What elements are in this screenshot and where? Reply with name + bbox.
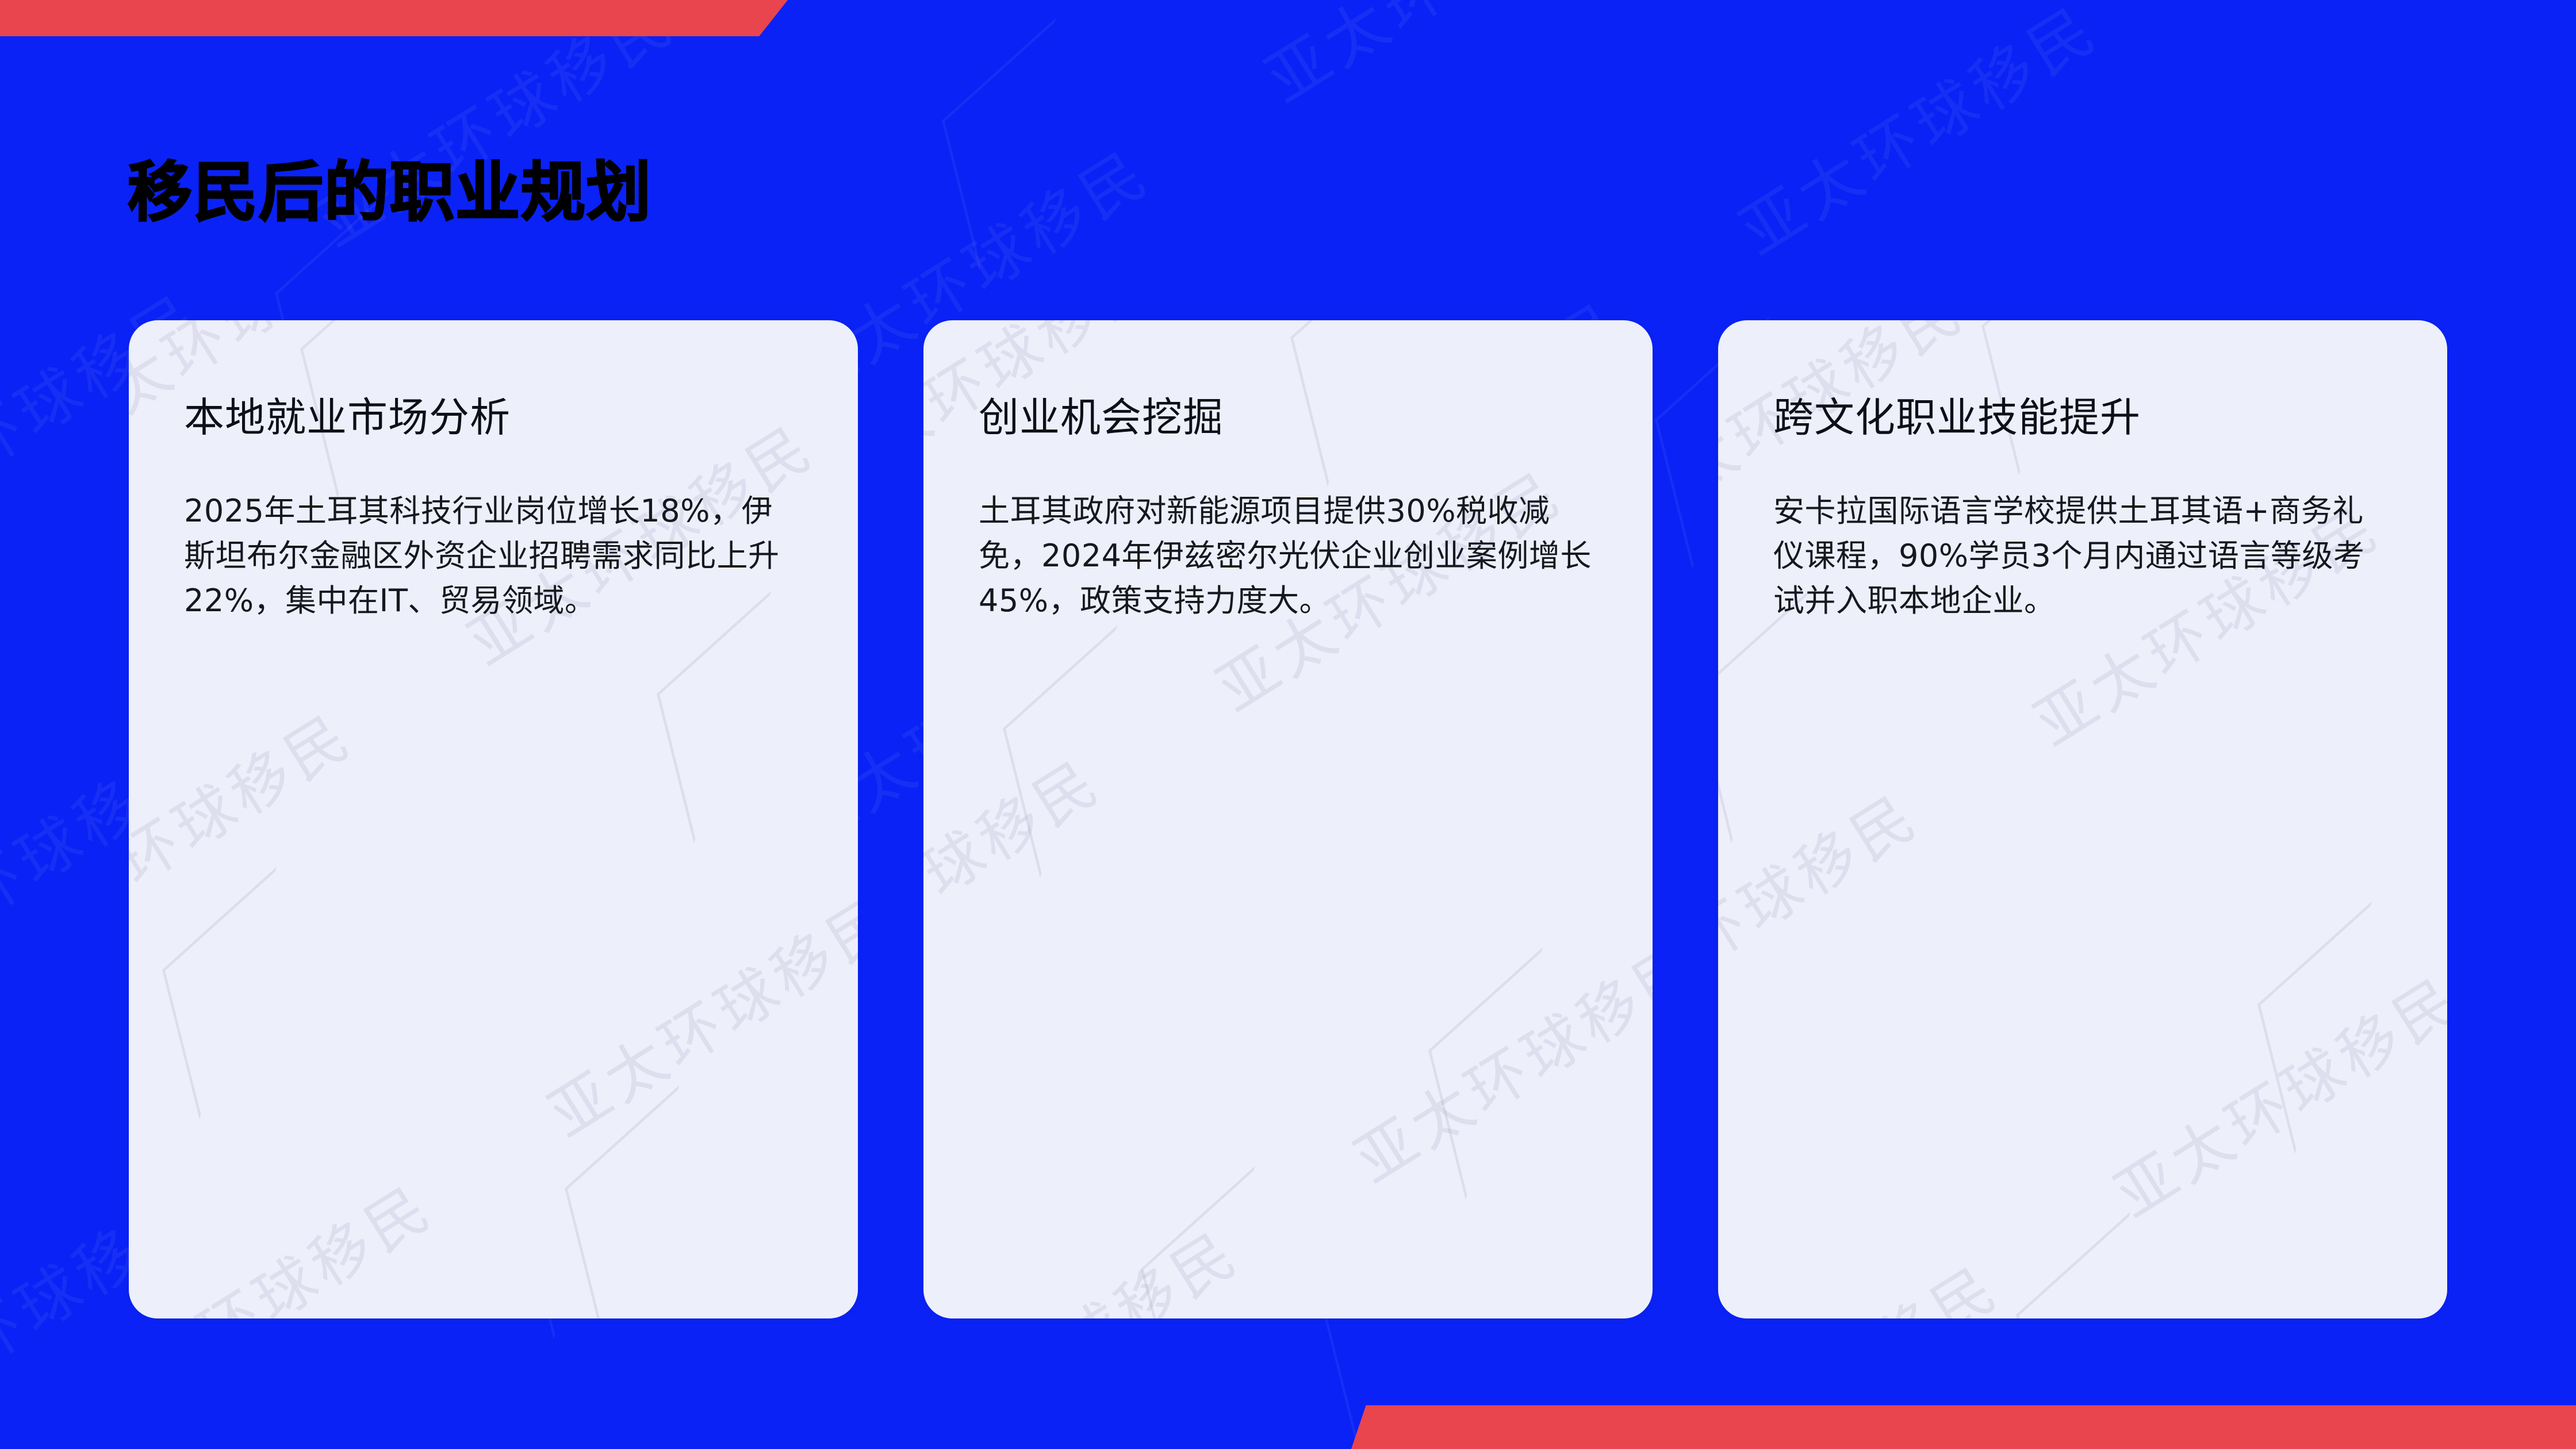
watermark-text: 亚太环球移民 bbox=[1718, 768, 1933, 1051]
top-left-accent-bar bbox=[0, 0, 788, 36]
watermark-triangle-icon bbox=[162, 867, 314, 1119]
card-heading: 本地就业市场分析 bbox=[184, 394, 803, 442]
card-local-job-market[interactable]: 亚太环球移民 亚太环球移民 亚太环球移民 亚太环球移民 亚太环球移民 亚太环球移… bbox=[129, 320, 858, 1318]
watermark-text: 亚太环球移民 bbox=[923, 1205, 1253, 1318]
card-content: 本地就业市场分析 2025年土耳其科技行业岗位增长18%，伊斯坦布尔金融区外资企… bbox=[129, 320, 858, 623]
watermark-text: 亚太环球移民 bbox=[923, 734, 1115, 1016]
watermark-triangle-icon bbox=[1428, 947, 1580, 1199]
page-title: 移民后的职业规划 bbox=[128, 152, 652, 233]
watermark-text-row: 亚太环球移民 亚太环球移民 bbox=[129, 837, 858, 1318]
watermark-text: 亚太环球移民 bbox=[1335, 917, 1653, 1199]
watermark-triangle-icon bbox=[2257, 901, 2409, 1153]
watermark-text-row: 亚太环球移民 亚太环球移民 bbox=[1718, 918, 2447, 1318]
watermark-triangle-icon bbox=[1718, 591, 1846, 843]
watermark-text: 亚太环球移民 bbox=[1246, 0, 1639, 120]
card-grid: 亚太环球移民 亚太环球移民 亚太环球移民 亚太环球移民 亚太环球移民 亚太环球移… bbox=[129, 320, 2447, 1318]
card-body-text: 2025年土耳其科技行业岗位增长18%，伊斯坦布尔金融区外资企业招聘需求同比上升… bbox=[184, 489, 803, 624]
card-heading: 跨文化职业技能提升 bbox=[1773, 394, 2392, 442]
bottom-right-accent-bar bbox=[1351, 1405, 2576, 1449]
watermark-triangle-icon bbox=[565, 1085, 716, 1318]
watermark-text: 亚太环球移民 bbox=[2095, 951, 2447, 1233]
watermark-triangle-icon bbox=[1141, 1166, 1293, 1318]
watermark-triangle-icon bbox=[942, 17, 1094, 270]
card-entrepreneurship-opportunity[interactable]: 亚太环球移民 亚太环球移民 亚太环球移民 亚太环球移民 亚太环球移民 亚太环球移… bbox=[923, 320, 1653, 1318]
card-body-text: 土耳其政府对新能源项目提供30%税收减免，2024年伊兹密尔光伏企业创业案例增长… bbox=[979, 489, 1597, 624]
watermark-triangle-icon bbox=[2016, 1212, 2168, 1318]
watermark-triangle-icon bbox=[1003, 625, 1155, 877]
watermark-triangle-icon bbox=[657, 591, 808, 843]
card-content: 跨文化职业技能提升 安卡拉国际语言学校提供土耳其语+商务礼仪课程，90%学员3个… bbox=[1718, 320, 2447, 623]
watermark-text-row: 亚太环球移民 亚太环球移民 bbox=[923, 883, 1653, 1318]
watermark-text: 亚太环球移民 bbox=[129, 1159, 447, 1318]
card-cross-cultural-skills[interactable]: 亚太环球移民 亚太环球移民 亚太环球移民 亚太环球移民 亚太环球移民 亚太环球移… bbox=[1718, 320, 2447, 1318]
watermark-text: 亚太环球移民 bbox=[129, 688, 366, 970]
card-heading: 创业机会挖掘 bbox=[979, 394, 1597, 442]
watermark-text: 亚太环球移民 bbox=[1720, 0, 2113, 272]
slide-canvas: 亚太环球移民 亚太环球移民 亚太环球移民 亚太环球移民 亚太环球移民 亚太环球移… bbox=[0, 0, 2576, 1449]
watermark-text: 亚太环球移民 bbox=[529, 871, 858, 1153]
card-content: 创业机会挖掘 土耳其政府对新能源项目提供30%税收减免，2024年伊兹密尔光伏企… bbox=[923, 320, 1653, 623]
watermark-text: 亚太环球移民 bbox=[1718, 1240, 2013, 1318]
card-body-text: 安卡拉国际语言学校提供土耳其语+商务礼仪课程，90%学员3个月内通过语言等级考试… bbox=[1773, 489, 2392, 624]
